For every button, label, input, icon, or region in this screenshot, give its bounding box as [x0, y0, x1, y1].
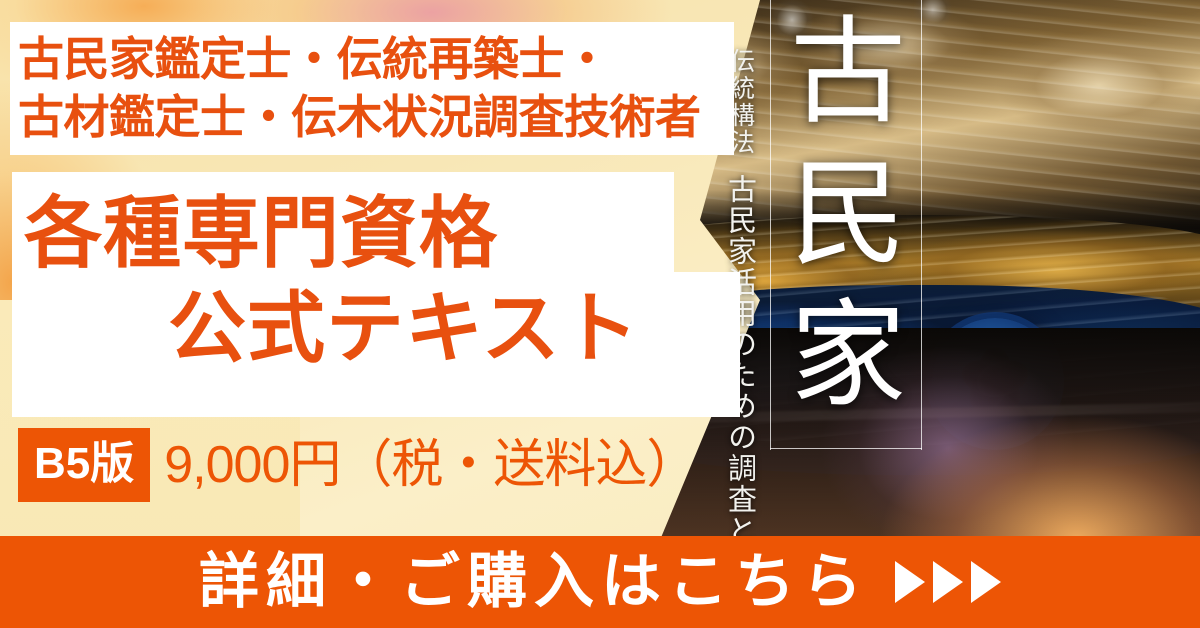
promo-banner: 古 民 家 伝統構法古民家活用のための調査と再生の 古民家鑑定士・伝統再築士・ … [0, 0, 1200, 628]
certifications-text: 古民家鑑定士・伝統再築士・ 古材鑑定士・伝木状況調査技術者 [18, 30, 734, 147]
certifications-line-2: 古材鑑定士・伝木状況調査技術者 [18, 88, 734, 146]
arrow-right-icon [933, 561, 963, 603]
cover-frame-right-line [921, 0, 922, 450]
book-cover-title: 古 民 家 [788, 4, 908, 429]
cta-label: 詳細・ご購入はこちら [199, 552, 869, 612]
price-row: B5版 9,000円（税・送料込） [18, 428, 697, 502]
certifications-line-1: 古民家鑑定士・伝統再築士・ [18, 30, 734, 88]
size-badge: B5版 [18, 428, 150, 502]
price-text: 9,000円（税・送料込） [164, 439, 697, 491]
book-cover-title-char-1: 古 [788, 4, 908, 146]
cover-frame-left-line [770, 0, 771, 450]
cta-arrows [895, 561, 1001, 603]
arrow-right-icon [895, 561, 925, 603]
book-cover-title-char-3: 家 [788, 287, 908, 429]
cover-frame-bottom-line [770, 448, 922, 449]
headline-line-2: 公式テキスト [0, 281, 690, 376]
headline-line-1: 各種専門資格 [0, 186, 690, 281]
book-cover-title-char-2: 民 [788, 146, 908, 288]
arrow-right-icon [971, 561, 1001, 603]
cta-bar[interactable]: 詳細・ご購入はこちら [0, 536, 1200, 628]
headline-text: 各種専門資格 公式テキスト [0, 186, 690, 376]
